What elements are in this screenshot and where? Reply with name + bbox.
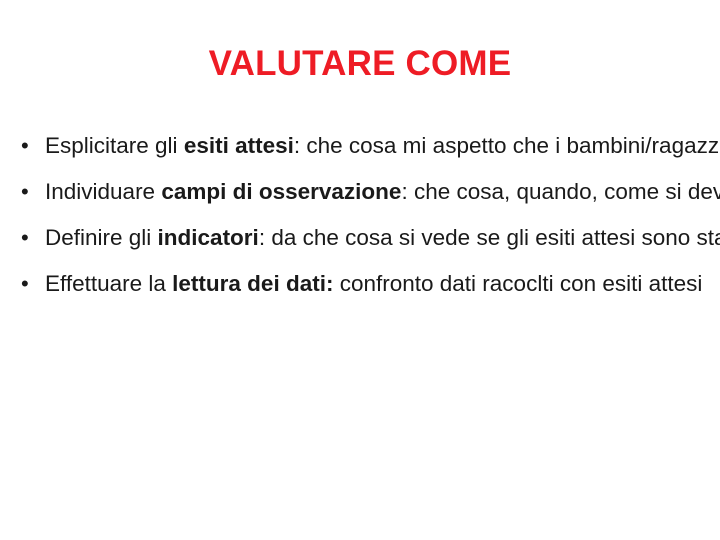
- bullet-list: •Esplicitare gli esiti attesi: che cosa …: [16, 128, 688, 312]
- body-text: : che cosa mi aspetto che i bambini/raga…: [294, 133, 720, 158]
- emphasis-text: campi di osservazione: [161, 179, 401, 204]
- list-item: •Definire gli indicatori: da che cosa si…: [16, 220, 688, 255]
- body-text: Definire gli: [45, 225, 158, 250]
- list-item-text: Individuare campi di osservazione: che c…: [45, 174, 667, 209]
- emphasis-text: esiti attesi: [184, 133, 294, 158]
- list-item: •Individuare campi di osservazione: che …: [16, 174, 688, 209]
- body-text: : che cosa, quando, come si deve osserva…: [401, 179, 720, 204]
- emphasis-text: lettura dei dati:: [172, 271, 333, 296]
- list-item: •Effettuare la lettura dei dati: confron…: [16, 266, 688, 301]
- list-item-text: Esplicitare gli esiti attesi: che cosa m…: [45, 128, 667, 163]
- bullet-point-icon: •: [16, 128, 45, 163]
- bullet-point-icon: •: [16, 220, 45, 255]
- list-item-text: Definire gli indicatori: da che cosa si …: [45, 220, 667, 255]
- emphasis-text: indicatori: [158, 225, 259, 250]
- list-item-text: Effettuare la lettura dei dati: confront…: [45, 266, 667, 301]
- bullet-point-icon: •: [16, 174, 45, 209]
- slide-title: VALUTARE COME: [0, 44, 720, 84]
- body-text: confronto dati racoclti con esiti attesi: [333, 271, 702, 296]
- body-text: Individuare: [45, 179, 161, 204]
- body-text: : da che cosa si vede se gli esiti attes…: [259, 225, 720, 250]
- body-text: Esplicitare gli: [45, 133, 184, 158]
- slide-canvas: VALUTARE COME •Esplicitare gli esiti att…: [0, 0, 720, 540]
- bullet-point-icon: •: [16, 266, 45, 301]
- body-text: Effettuare la: [45, 271, 172, 296]
- list-item: •Esplicitare gli esiti attesi: che cosa …: [16, 128, 688, 163]
